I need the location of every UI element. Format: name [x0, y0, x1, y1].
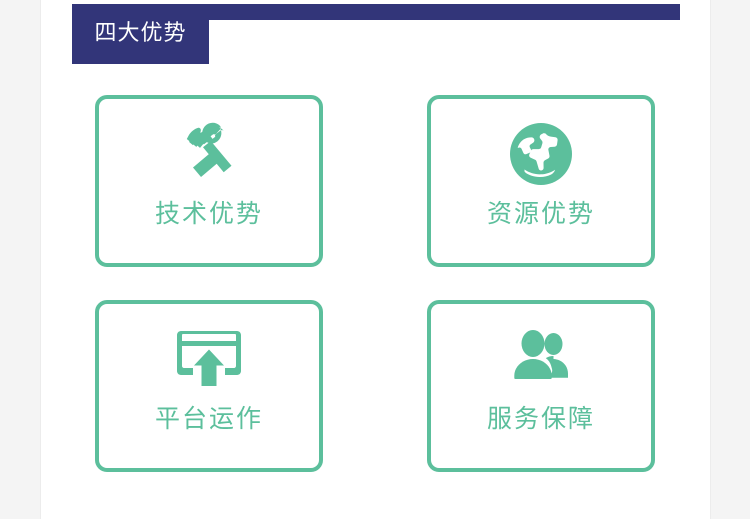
- advantage-card-label: 资源优势: [487, 201, 595, 226]
- two-people-icon: [505, 326, 577, 392]
- page-title: 四大优势: [94, 23, 186, 45]
- content-panel: 四大优势: [40, 0, 711, 519]
- browser-upload-icon: [173, 326, 245, 392]
- globe-icon: [505, 121, 577, 187]
- advantage-card-platform[interactable]: 平台运作: [95, 300, 323, 472]
- advantage-card-label: 服务保障: [487, 406, 595, 431]
- advantage-card-label: 平台运作: [155, 406, 263, 431]
- advantage-card-service[interactable]: 服务保障: [427, 300, 655, 472]
- advantage-card-grid: 技术优势: [95, 95, 655, 471]
- section-title-block: 四大优势: [72, 4, 209, 64]
- advantage-card-technology[interactable]: 技术优势: [95, 95, 323, 267]
- advantage-card-resource[interactable]: 资源优势: [427, 95, 655, 267]
- hammer-wrench-icon: [173, 121, 245, 187]
- advantage-card-label: 技术优势: [155, 201, 263, 226]
- advantages-section: 四大优势: [0, 0, 750, 519]
